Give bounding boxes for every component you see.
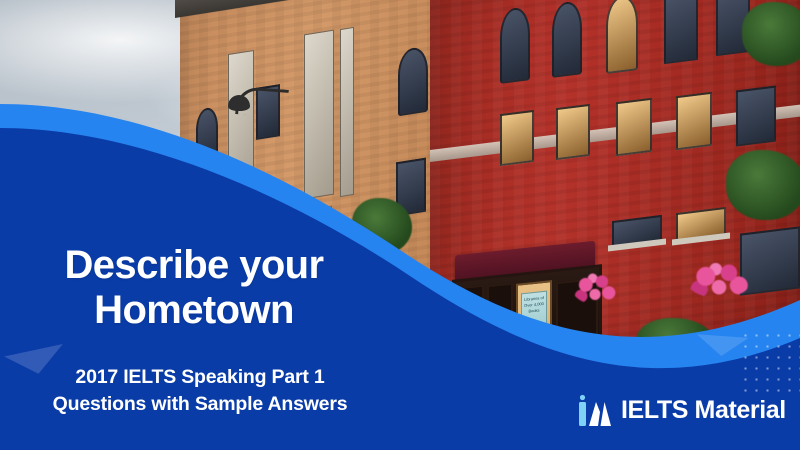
subtitle-line-2: Questions with Sample Answers — [0, 391, 400, 418]
title-line-2: Hometown — [0, 288, 388, 333]
page-subtitle: 2017 IELTS Speaking Part 1 Questions wit… — [0, 364, 400, 418]
brand-logo-text: IELTS Material — [621, 396, 786, 425]
ielts-material-m-logo-icon — [578, 392, 612, 428]
subtitle-line-1: 2017 IELTS Speaking Part 1 — [0, 364, 400, 391]
logo-text-part-2: al — [766, 396, 786, 424]
brand-logo[interactable]: IELTS Material — [578, 392, 786, 428]
logo-text-part-1: IELTS Mater — [621, 396, 759, 424]
title-line-1: Describe your — [0, 243, 388, 288]
dot-grid-pattern — [740, 330, 800, 398]
ielts-hero-banner: Libraries of Over 4,000 Books Describe y… — [0, 0, 800, 450]
page-title: Describe your Hometown — [0, 243, 388, 333]
